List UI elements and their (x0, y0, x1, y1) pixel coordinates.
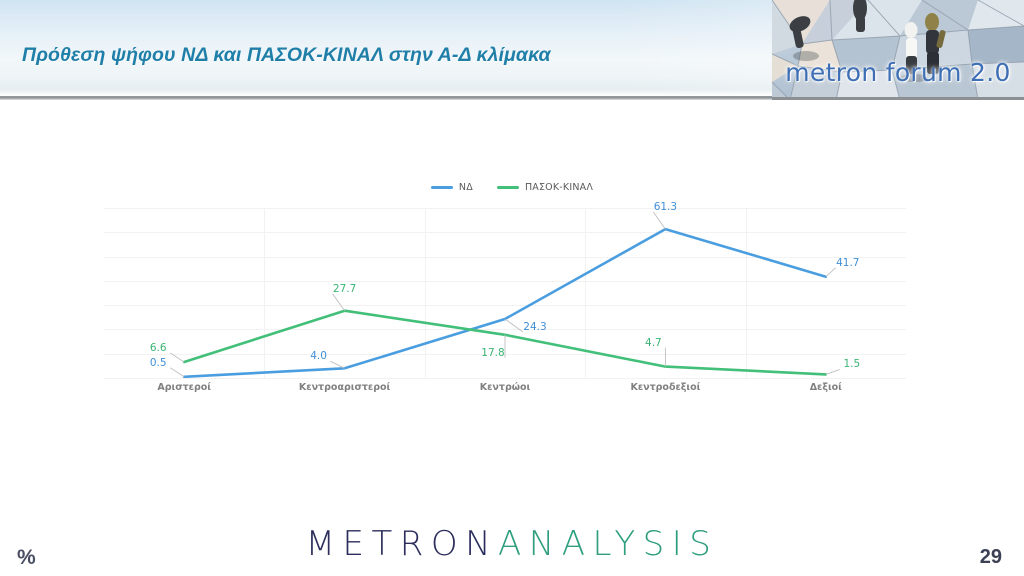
x-axis-category-labels: ΑριστεροίΚεντροαριστεροίΚεντρώοιΚεντροδε… (104, 382, 906, 400)
data-label-pasok-kinal-0: 6.6 (150, 342, 167, 354)
data-labels: 0.54.024.361.341.76.627.717.84.71.5 (104, 208, 906, 378)
legend-label-nd: ΝΔ (459, 182, 473, 193)
data-label-nd-0: 0.5 (150, 357, 167, 369)
data-label-pasok-kinal-2: 17.8 (481, 347, 504, 359)
x-axis-label-1: Κεντροαριστεροί (299, 382, 390, 393)
page-title: Πρόθεση ψήφου ΝΔ και ΠΑΣΟΚ-ΚΙΝΑΛ στην Α-… (22, 44, 551, 67)
x-axis-label-2: Κεντρώοι (480, 382, 530, 393)
data-label-nd-3: 61.3 (654, 201, 677, 213)
logo-primary-text: METRON (306, 524, 498, 564)
data-label-pasok-kinal-4: 1.5 (843, 358, 860, 370)
data-label-nd-4: 41.7 (836, 257, 859, 269)
x-axis-label-4: Δεξιοί (810, 382, 842, 393)
metron-forum-banner-image: metron forum 2.0 (772, 0, 1024, 100)
slide-header: Πρόθεση ψήφου ΝΔ και ΠΑΣΟΚ-ΚΙΝΑΛ στην Α-… (0, 0, 1024, 100)
legend-label-pasok-kinal: ΠΑΣΟΚ-ΚΙΝΑΛ (525, 182, 593, 193)
legend-swatch-pasok-kinal (497, 186, 519, 190)
legend-item-nd[interactable]: ΝΔ (431, 182, 473, 193)
data-label-nd-2: 24.3 (523, 321, 546, 333)
page-number: 29 (980, 546, 1002, 569)
legend-swatch-nd (431, 186, 453, 190)
banner-caption: metron forum 2.0 (772, 58, 1024, 87)
vote-intention-line-chart: ΝΔ ΠΑΣΟΚ-ΚΙΝΑΛ 0.54.024.361.341.76.627.7… (0, 170, 1024, 430)
chart-plot-area: 0.54.024.361.341.76.627.717.84.71.5 (104, 208, 906, 378)
logo-secondary-text: ANALYSIS (498, 524, 718, 564)
data-label-pasok-kinal-3: 4.7 (645, 337, 662, 349)
metron-analysis-logo: METRONANALYSIS (0, 524, 1024, 564)
legend-item-pasok-kinal[interactable]: ΠΑΣΟΚ-ΚΙΝΑΛ (497, 182, 593, 193)
x-axis-label-0: Αριστεροί (157, 382, 211, 393)
x-axis-label-3: Κεντροδεξιοί (630, 382, 700, 393)
data-label-pasok-kinal-1: 27.7 (333, 283, 356, 295)
data-label-nd-1: 4.0 (310, 350, 327, 362)
chart-legend: ΝΔ ΠΑΣΟΚ-ΚΙΝΑΛ (0, 182, 1024, 193)
